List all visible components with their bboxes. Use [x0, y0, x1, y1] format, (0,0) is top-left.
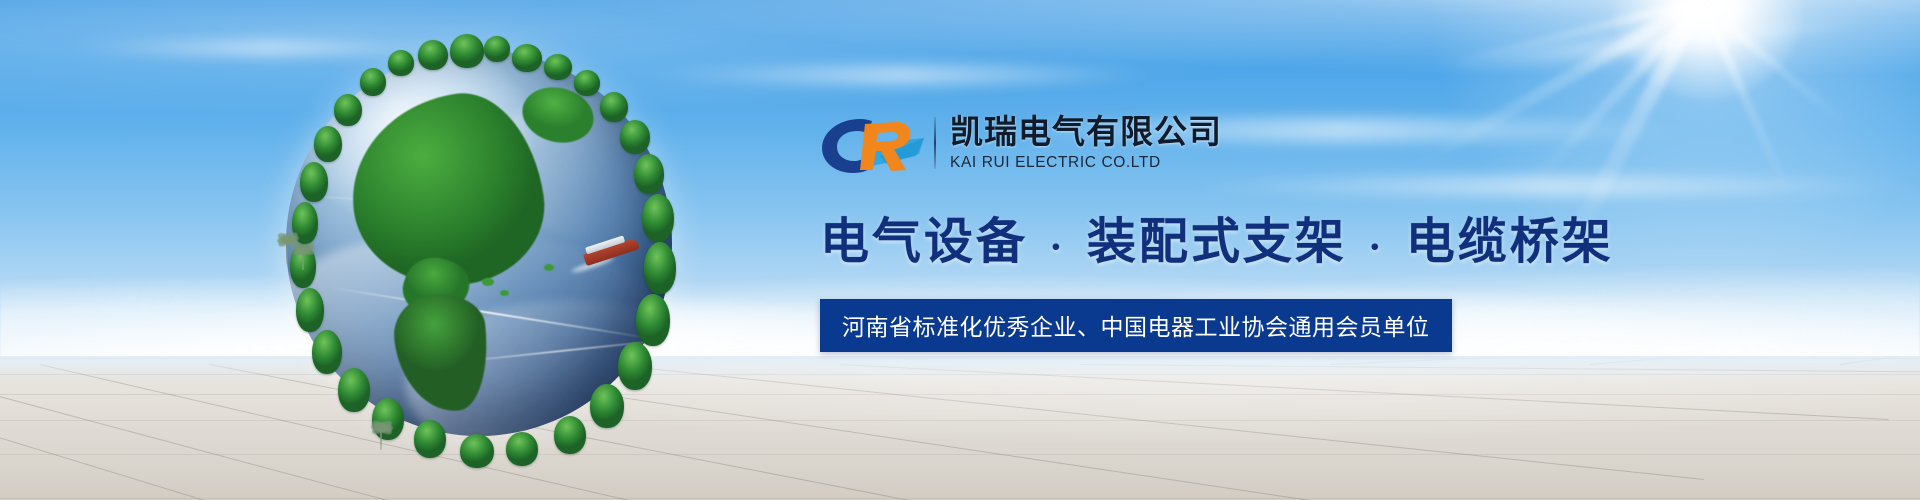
headline-part-1: 电气设备: [820, 214, 1028, 269]
company-name-en: KAI RUI ELECTRIC CO.LTD: [950, 154, 1222, 172]
landmass-island: [482, 278, 494, 286]
globe-sphere: [286, 50, 672, 436]
sun-icon: [1608, 0, 1808, 104]
headline-separator: ·: [1043, 224, 1071, 269]
headline-part-3: 电缆桥架: [1406, 214, 1614, 269]
brand-lockup: 凯瑞电气有限公司 KAI RUI ELECTRIC CO.LTD: [820, 108, 1520, 178]
cloud-wisp: [640, 66, 1160, 84]
headline-part-2: 装配式支架: [1087, 214, 1347, 269]
landmass-island: [544, 264, 554, 271]
promo-banner: 凯瑞电气有限公司 KAI RUI ELECTRIC CO.LTD 电气设备 · …: [0, 0, 1920, 500]
banner-content: 凯瑞电气有限公司 KAI RUI ELECTRIC CO.LTD 电气设备 · …: [820, 108, 1520, 352]
cr-logo-icon: [820, 110, 928, 176]
headline-separator: ·: [1362, 224, 1390, 269]
company-name-cn: 凯瑞电气有限公司: [950, 114, 1222, 151]
globe-illustration: [268, 42, 688, 462]
headline: 电气设备 · 装配式支架 · 电缆桥架: [820, 202, 1520, 273]
landmass-island: [500, 290, 509, 296]
logo-divider: [934, 117, 936, 169]
credential-badge: 河南省标准化优秀企业、中国电器工业协会通用会员单位: [820, 299, 1452, 352]
brand-name-block: 凯瑞电气有限公司 KAI RUI ELECTRIC CO.LTD: [950, 114, 1222, 172]
